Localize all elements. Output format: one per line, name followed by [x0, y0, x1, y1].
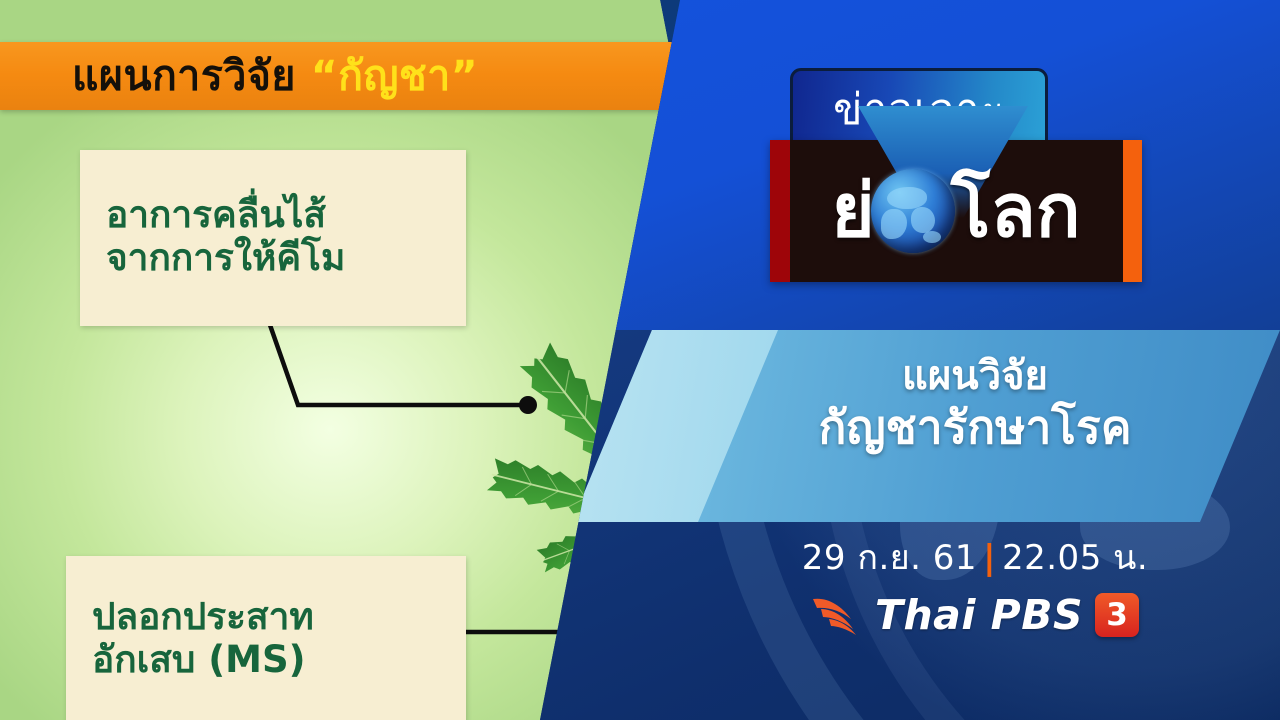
callout-1-line-2: จากการให้คีโม — [106, 237, 345, 280]
program-logo-bottom-box: ย่ โลก — [770, 140, 1142, 282]
continent-shape — [881, 209, 907, 239]
broadcast-date: 29 ก.ย. 61 — [802, 538, 977, 578]
headline-line-1: แผนวิจัย — [760, 352, 1190, 400]
broadcast-time: 22.05 น. — [1002, 538, 1148, 578]
headline-line-2: กัญชารักษาโรค — [760, 400, 1190, 455]
headline-text: แผนวิจัย กัญชารักษาโรค — [760, 352, 1190, 455]
channel-number-badge: 3 — [1095, 593, 1139, 637]
continent-shape — [923, 231, 941, 243]
callout-2-line-2: อักเสบ (MS) — [92, 639, 306, 682]
continent-shape — [911, 207, 935, 233]
continent-shape — [887, 187, 927, 209]
broadcast-screen: แผนการวิจัย “กัญชา” — [0, 0, 1280, 720]
callout-box-nausea: อาการคลื่นไส้ จากการให้คีโม — [80, 150, 466, 326]
program-logo-line2-right: โลก — [951, 174, 1081, 248]
thaipbs-bird-icon — [811, 593, 863, 637]
channel-logo: Thai PBS 3 — [760, 584, 1190, 646]
program-logo-line2-left: ย่ — [831, 174, 874, 248]
channel-name: Thai PBS — [875, 591, 1083, 639]
datetime-line: 29 ก.ย. 61|22.05 น. — [760, 530, 1190, 584]
program-logo: ข่าวเจาะ ย่ โลก — [770, 68, 1160, 310]
callout-2-line-1: ปลอกประสาท — [92, 596, 314, 639]
program-logo-line-2: ย่ โลก — [770, 140, 1142, 282]
globe-icon — [871, 169, 955, 253]
callout-1-line-1: อาการคลื่นไส้ — [106, 194, 326, 237]
callout-box-ms: ปลอกประสาท อักเสบ (MS) — [66, 556, 466, 720]
datetime-separator: | — [983, 538, 996, 578]
